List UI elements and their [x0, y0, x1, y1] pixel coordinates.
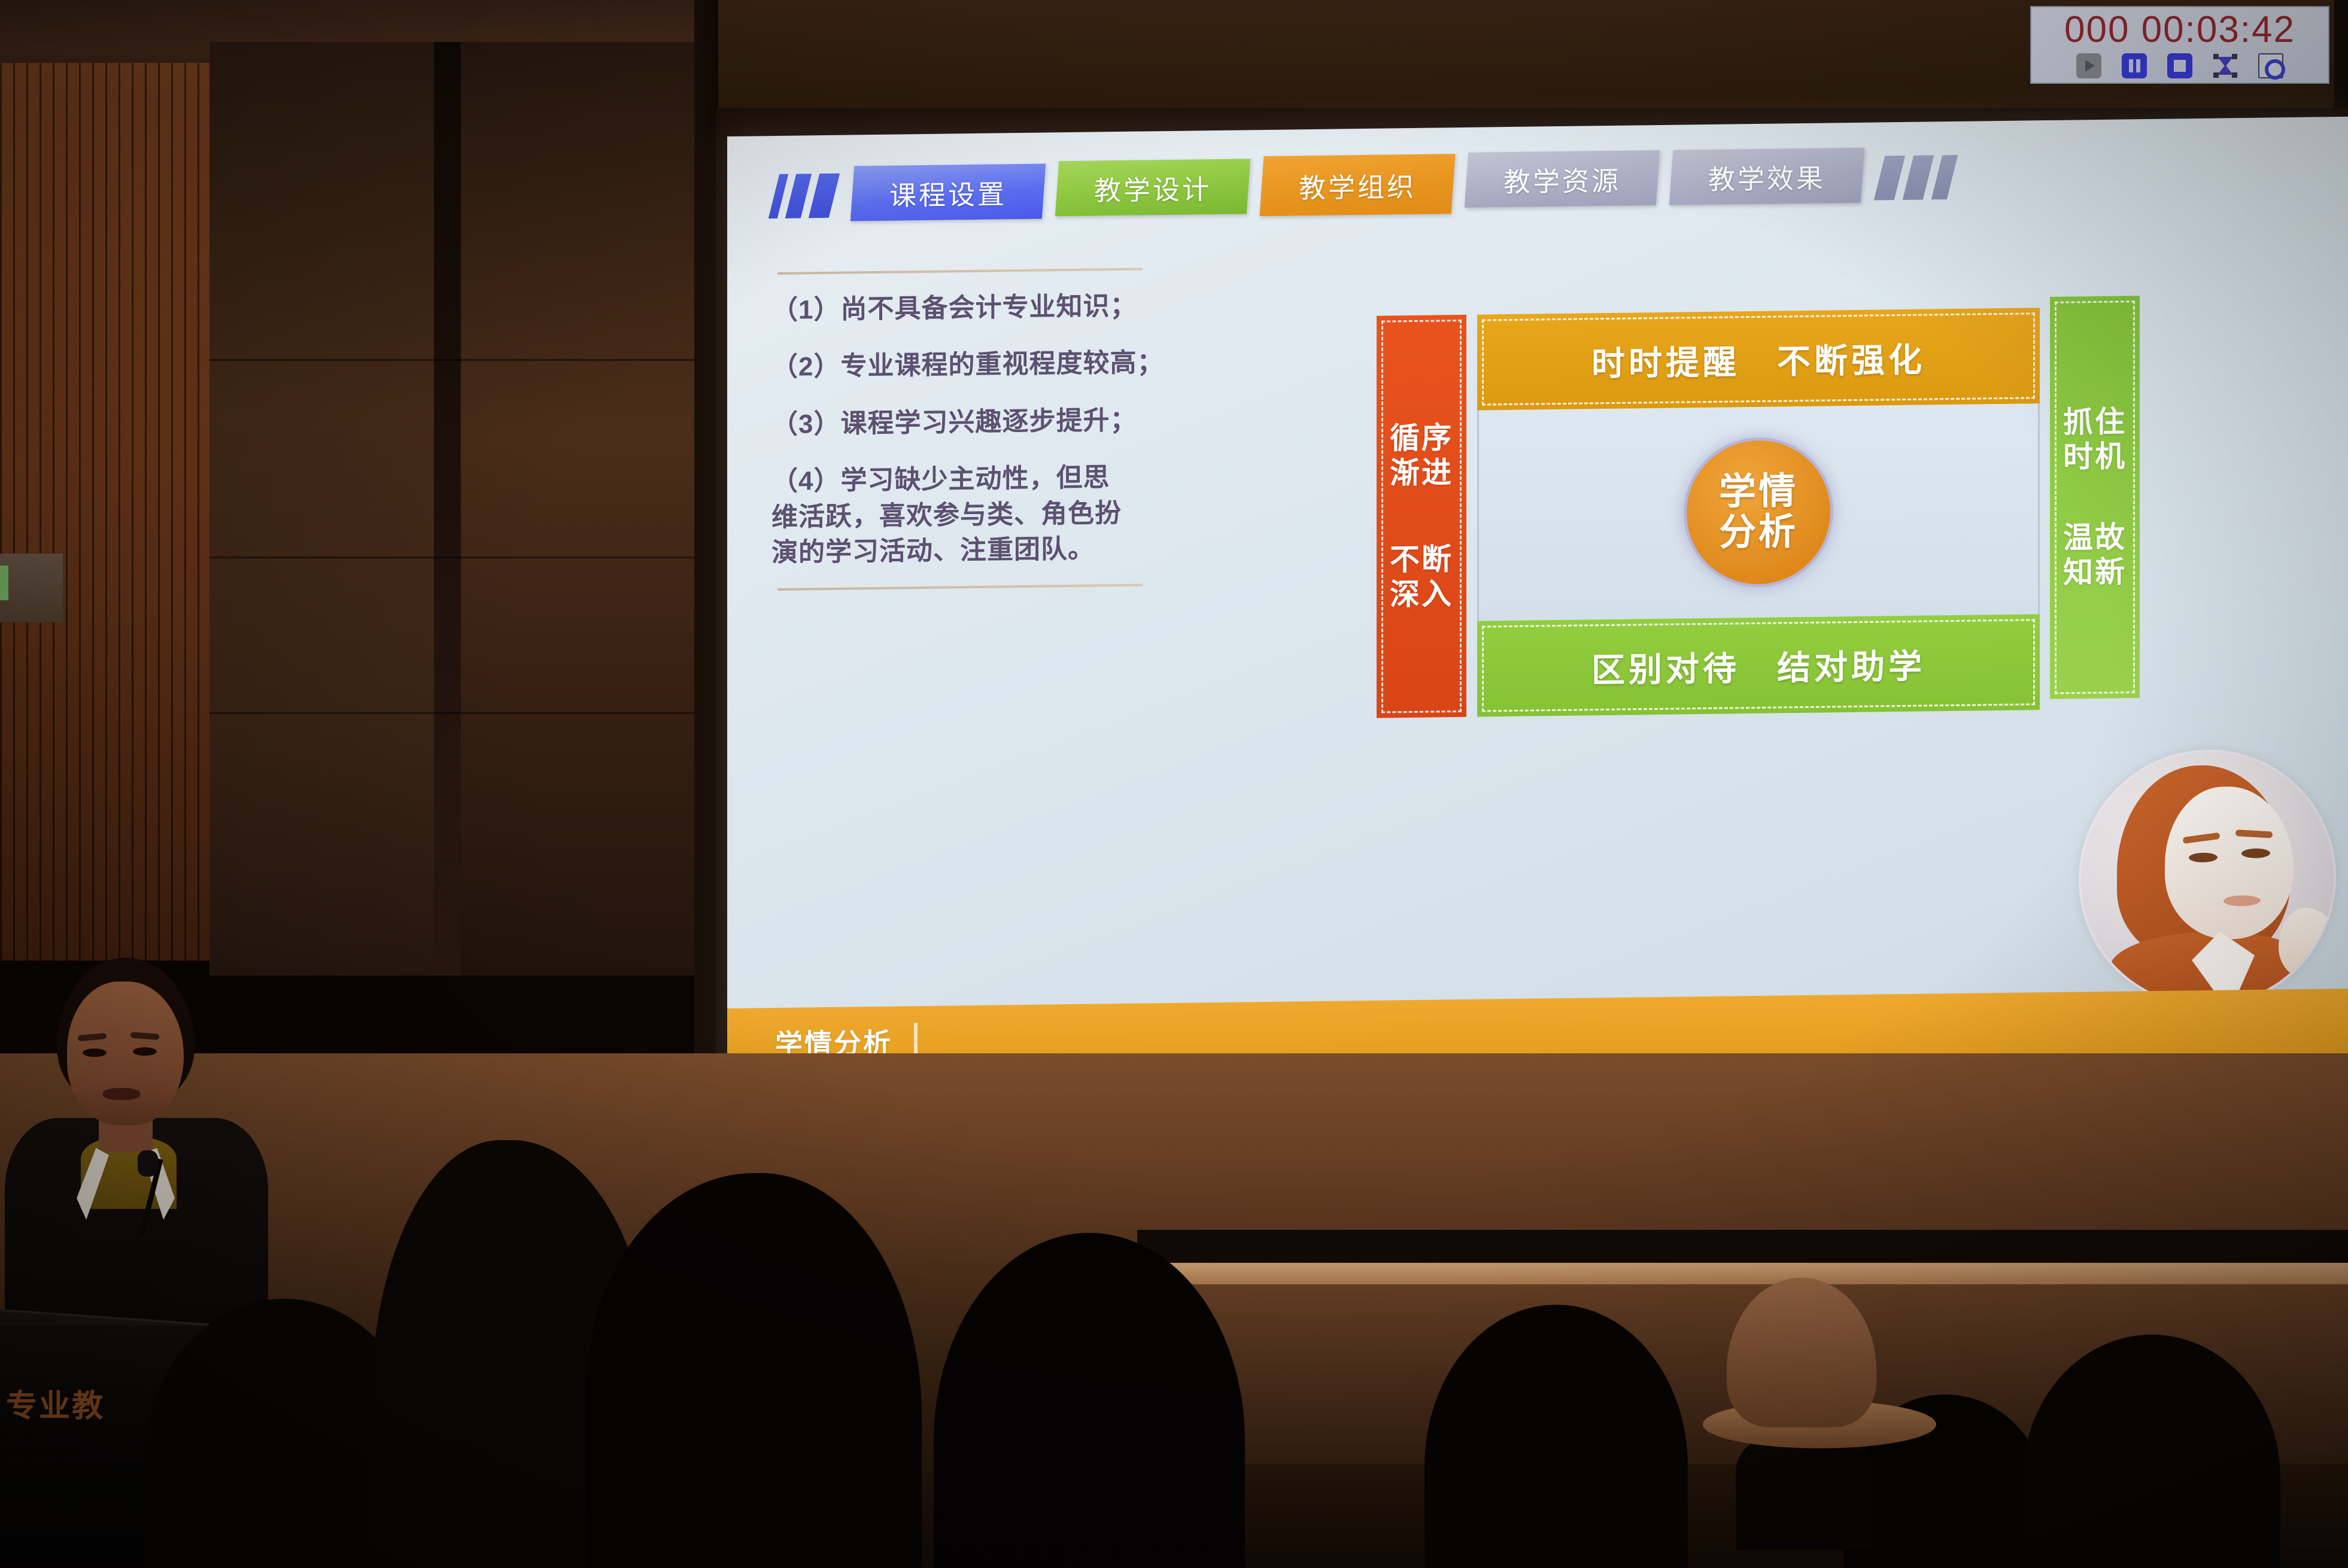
timer-controls — [2076, 53, 2283, 78]
bullet-item: （1）尚不具备会计专业知识； — [771, 287, 1248, 328]
tab-label: 教学设计 — [1094, 168, 1211, 208]
diagram-center-area: 学情 分析 — [1477, 403, 2040, 621]
avatar-face — [2165, 786, 2294, 940]
avatar — [2079, 748, 2348, 1027]
projection-screen: 课程设置 教学设计 教学组织 教学资源 教学效果 — [727, 117, 2348, 1077]
tab-label: 教学资源 — [1503, 159, 1621, 199]
circle-label-line1: 学情 — [1719, 471, 1798, 513]
tab-course-setup[interactable]: 课程设置 — [850, 163, 1046, 221]
slide-tab-bar: 课程设置 教学设计 教学组织 教学资源 教学效果 — [727, 139, 2348, 231]
tab-teaching-organization[interactable]: 教学组织 — [1260, 154, 1456, 216]
diagram-bottom-band: 区别对待 结对助学 — [1477, 614, 2040, 716]
diagram-left-band: 循序 渐进 不断 深入 — [1377, 315, 1466, 718]
audience-head — [1736, 1430, 1873, 1550]
wall-panel-right — [461, 42, 718, 976]
diagram-center-circle: 学情 分析 — [1684, 436, 1833, 588]
tab-teaching-resources[interactable]: 教学资源 — [1465, 150, 1660, 208]
bullet-item: （4）学习缺少主动性，但思维活跃，喜欢参与类、角色扮演的学习活动、注重团队。 — [771, 460, 1131, 571]
hat-crown — [1727, 1278, 1876, 1427]
stop-icon[interactable] — [2167, 53, 2192, 78]
avatar-hand — [2279, 907, 2336, 980]
wall-led-indicator — [0, 566, 8, 600]
circle-label-line2: 分析 — [1719, 512, 1798, 554]
slash-decoration-right — [1879, 155, 1952, 200]
presenter-eye — [83, 1049, 107, 1057]
diagram-right-band: 抓住 时机 温故 知新 — [2050, 296, 2140, 699]
diagram-bottom-label: 区别对待 结对助学 — [1591, 639, 1925, 692]
stage-banner-text: 专业教 — [6, 1381, 105, 1426]
tab-teaching-effect[interactable]: 教学效果 — [1669, 148, 1864, 205]
bullet-item: （2）专业课程的重视程度较高； — [771, 344, 1248, 385]
divider-bottom — [777, 584, 1143, 591]
pause-icon[interactable] — [2122, 53, 2147, 78]
diagram-top-band: 时时提醒 不断强化 — [1477, 308, 2040, 410]
wall-control-plate[interactable] — [0, 554, 63, 622]
microphone-icon — [138, 1150, 158, 1177]
tab-label: 教学效果 — [1708, 156, 1825, 196]
play-icon[interactable] — [2076, 53, 2101, 78]
timer-overlay[interactable]: 000 00:03:42 — [2030, 6, 2329, 84]
diagram-left-item: 循序 — [1390, 421, 1453, 456]
gear-icon[interactable] — [2258, 53, 2283, 78]
diagram-right-item: 抓住 — [2063, 405, 2127, 440]
wall-seam — [209, 359, 718, 361]
diagram-left-item: 不断 — [1390, 542, 1453, 578]
resize-icon[interactable] — [2213, 53, 2238, 78]
diagram-right-item: 温故 — [2063, 520, 2127, 555]
stage-dark-band — [1137, 1230, 2348, 1265]
wall-seam — [209, 712, 718, 714]
slash-decoration-left — [774, 174, 834, 218]
tab-label: 课程设置 — [889, 172, 1007, 212]
bullet-list-block: （1）尚不具备会计专业知识； （2）专业课程的重视程度较高； （3）课程学习兴趣… — [769, 266, 1248, 591]
bullet-item: （3）课程学习兴趣逐步提升； — [771, 401, 1248, 442]
diagram-right-item: 时机 — [2063, 439, 2127, 475]
wall-panel-left — [209, 42, 434, 976]
audience-member-with-hat — [1703, 1278, 1936, 1475]
projector-room-scene: 课程设置 教学设计 教学组织 教学资源 教学效果 — [0, 0, 2348, 1568]
wall-seam — [209, 557, 718, 558]
diagram-top-label: 时时提醒 不断强化 — [1591, 333, 1925, 385]
diagram-right-item: 知新 — [2063, 555, 2127, 590]
diagram-left-item: 渐进 — [1390, 455, 1453, 491]
xueqing-analysis-diagram: 循序 渐进 不断 深入 时时提醒 不断强化 学情 分析 — [1377, 296, 2140, 718]
timer-display: 000 00:03:42 — [2064, 11, 2295, 48]
tab-teaching-design[interactable]: 教学设计 — [1055, 159, 1250, 216]
diagram-left-item: 深入 — [1390, 577, 1453, 612]
dashed-border — [1381, 320, 1462, 713]
wall-panel-seam — [434, 42, 461, 976]
dashed-border — [2055, 300, 2135, 694]
avatar-portrait-photo — [2079, 748, 2336, 1008]
wall-slat-panel — [0, 63, 209, 961]
tab-label: 教学组织 — [1299, 165, 1416, 205]
presenter-eye — [133, 1047, 157, 1056]
presenter-mouth — [103, 1088, 140, 1100]
